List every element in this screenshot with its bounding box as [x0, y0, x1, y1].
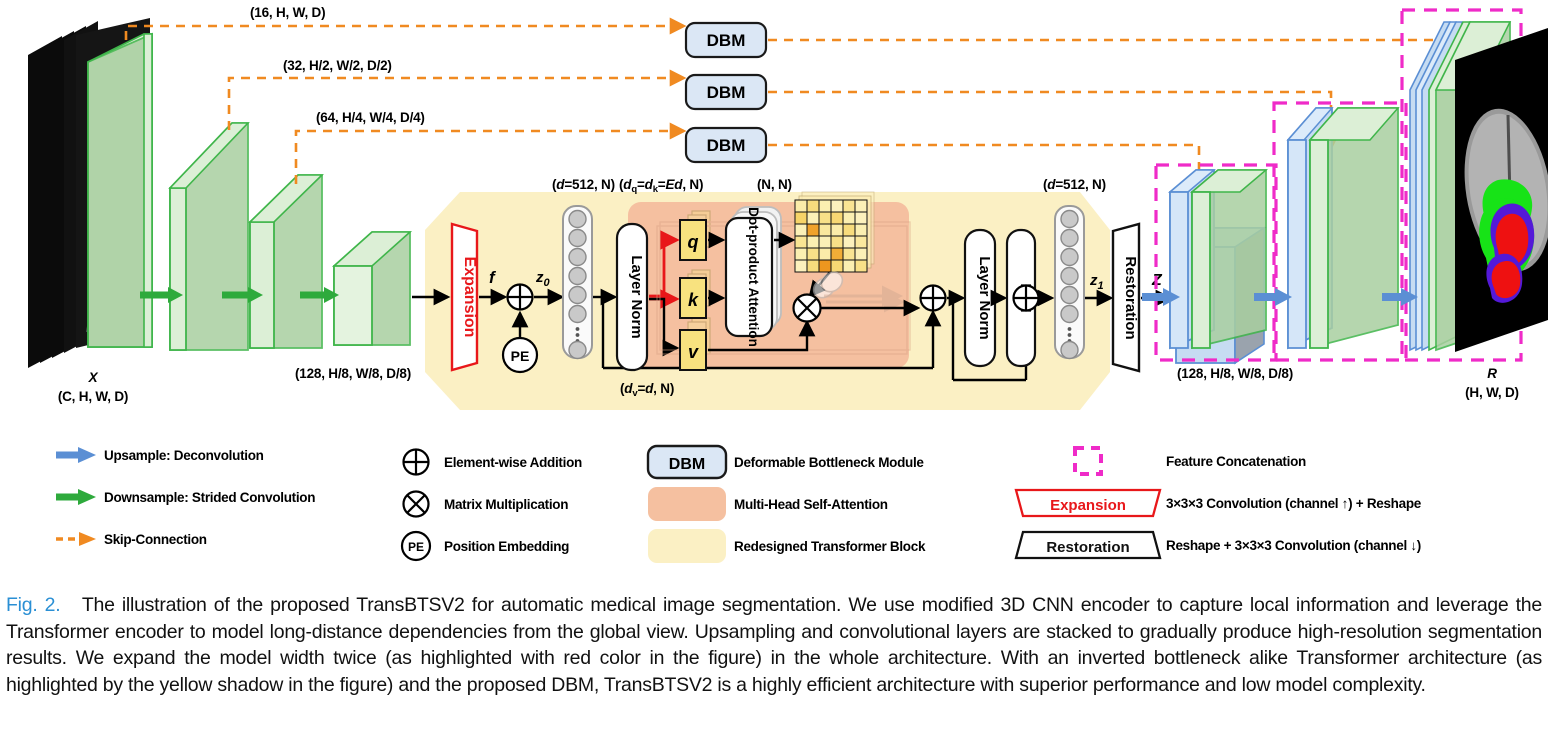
legend-item-concat: Feature Concatenation — [1010, 444, 1306, 478]
heatmap-cell — [831, 200, 843, 212]
legend-item-transformer-block: Redesigned Transformer Block — [642, 528, 925, 564]
transformer-out-shape-label: (128, H/8, W/8, D/8) — [1177, 366, 1293, 381]
layer-norm-label-1: Layer Norm — [628, 255, 645, 338]
skip-shape-label-1: (16, H, W, D) — [250, 5, 325, 20]
legend-item-downsample: Downsample: Strided Convolution — [48, 488, 315, 506]
pe-label: PE — [511, 348, 530, 364]
token-sequence-in — [563, 206, 592, 359]
k-label: k — [688, 290, 699, 310]
heatmap-cell — [807, 200, 819, 212]
green-arrow-icon — [48, 488, 104, 506]
v-label: v — [688, 342, 699, 362]
output-shape-label: (H, W, D) — [1465, 385, 1519, 400]
bottleneck-shape-label: (128, H/8, W/8, D/8) — [295, 366, 411, 381]
figure-caption: Fig. 2. The illustration of the proposed… — [6, 592, 1542, 698]
position-embedding: PE — [503, 338, 537, 372]
architecture-diagram: X (C, H, W, D) — [0, 0, 1548, 432]
skip-shape-label-3: (64, H/4, W/4, D/4) — [316, 110, 425, 125]
legend-item-pe: PE Position Embedding — [388, 530, 569, 562]
expansion-trapezoid-icon: Expansion — [1010, 486, 1166, 520]
legend-label-downsample: Downsample: Strided Convolution — [104, 490, 315, 505]
heatmap-cell — [795, 248, 807, 260]
skip-connection-1 — [126, 26, 684, 40]
dbm-label-1: DBM — [707, 31, 746, 50]
encoder-block-3 — [250, 175, 322, 348]
legend-item-restoration: Restoration Reshape + 3×3×3 Convolution … — [1010, 528, 1421, 562]
circle-plus-icon — [388, 446, 444, 478]
shape-attn-label: (N, N) — [757, 177, 792, 192]
legend-item-addition: Element-wise Addition — [388, 446, 582, 478]
encoder-block-2 — [170, 123, 248, 350]
segmentation-output-image — [1454, 28, 1548, 352]
v-box: v — [680, 330, 706, 370]
orange-dashed-arrow-icon — [48, 530, 104, 548]
heatmap-cell — [855, 260, 867, 272]
heatmap-cell — [855, 200, 867, 212]
heatmap-cell — [843, 248, 855, 260]
legend-label-dbm: Deformable Bottleneck Module — [734, 455, 924, 470]
dbm-box-1[interactable]: DBM — [686, 23, 766, 57]
shape-tokens-out-label: (d=512, N) — [1043, 177, 1106, 192]
legend-label-concat: Feature Concatenation — [1166, 454, 1306, 469]
layer-norm-2: Layer Norm — [965, 230, 995, 366]
heatmap-cell — [855, 236, 867, 248]
heatmap-cell — [831, 224, 843, 236]
heatmap-cell — [807, 224, 819, 236]
blue-arrow-icon — [48, 446, 104, 464]
heatmap-cell — [795, 200, 807, 212]
figure-root: X (C, H, W, D) — [0, 0, 1548, 746]
heatmap-cell — [819, 212, 831, 224]
svg-text:DBM: DBM — [669, 456, 705, 473]
legend-label-skip: Skip-Connection — [104, 532, 207, 547]
heatmap-cell — [819, 200, 831, 212]
legend-label-pe: Position Embedding — [444, 539, 569, 554]
legend-label-matmul: Matrix Multiplication — [444, 497, 568, 512]
element-wise-addition-3 — [1014, 286, 1039, 311]
dbm-box-icon: DBM — [642, 444, 734, 480]
q-label: q — [688, 232, 699, 252]
heatmap-cell — [831, 260, 843, 272]
heatmap-cell — [795, 224, 807, 236]
figure-caption-text: The illustration of the proposed TransBT… — [6, 594, 1542, 696]
dot-product-attention-label: Dot-product Attention — [746, 207, 761, 347]
layer-norm-1: Layer Norm — [617, 224, 647, 370]
svg-text:Restoration: Restoration — [1046, 539, 1129, 556]
k-box: k — [680, 278, 706, 318]
element-wise-addition-1 — [508, 285, 533, 310]
dbm-box-2[interactable]: DBM — [686, 75, 766, 109]
heatmap-cell — [831, 212, 843, 224]
heatmap-cell — [819, 236, 831, 248]
dbm-label-2: DBM — [707, 83, 746, 102]
element-wise-addition-2 — [921, 286, 946, 311]
pe-circle-icon: PE — [388, 530, 444, 562]
legend-item-dbm: DBM Deformable Bottleneck Module — [642, 444, 924, 480]
magenta-dashed-box-icon — [1010, 444, 1166, 478]
attention-heatmap — [795, 192, 874, 272]
dbm-label-3: DBM — [707, 136, 746, 155]
shape-tokens-in-label: (d=512, N) — [552, 177, 615, 192]
figure-number: Fig. 2. — [6, 594, 60, 616]
heatmap-cell — [855, 248, 867, 260]
heatmap-cell — [855, 212, 867, 224]
token-sequence-out — [1055, 206, 1084, 359]
skip-out-1 — [768, 40, 1450, 58]
svg-text:Expansion: Expansion — [1050, 497, 1126, 514]
legend: Upsample: Deconvolution Downsample: Stri… — [0, 432, 1548, 572]
layer-norm-label-2: Layer Norm — [976, 256, 993, 339]
salmon-swatch-icon — [642, 486, 734, 522]
encoder-block-1 — [88, 34, 152, 347]
heatmap-cell — [855, 224, 867, 236]
heatmap-cell — [819, 224, 831, 236]
restoration-trapezoid-icon: Restoration — [1010, 528, 1166, 562]
heatmap-cell — [843, 260, 855, 272]
legend-item-skip: Skip-Connection — [48, 530, 207, 548]
legend-item-matmul: Matrix Multiplication — [388, 488, 568, 520]
heatmap-cell — [807, 236, 819, 248]
heatmap-cell — [843, 236, 855, 248]
yellow-swatch-icon — [642, 528, 734, 564]
decoder-block-1 — [1170, 170, 1266, 348]
q-box: q — [680, 220, 706, 260]
decoder-block-2 — [1288, 108, 1398, 348]
heatmap-cell — [795, 236, 807, 248]
heatmap-cell — [807, 248, 819, 260]
heatmap-cell — [819, 248, 831, 260]
svg-text:PE: PE — [408, 540, 424, 554]
heatmap-cell — [819, 260, 831, 272]
legend-label-restoration: Reshape + 3×3×3 Convolution (channel ↓) — [1166, 538, 1421, 553]
skip-connection-2 — [229, 78, 684, 130]
circle-times-icon — [388, 488, 444, 520]
heatmap-cell — [795, 260, 807, 272]
legend-item-mhsa: Multi-Head Self-Attention — [642, 486, 888, 522]
heatmap-cell — [807, 260, 819, 272]
legend-label-addition: Element-wise Addition — [444, 455, 582, 470]
legend-label-upsample: Upsample: Deconvolution — [104, 448, 264, 463]
skip-out-3 — [768, 145, 1199, 196]
heatmap-cell — [795, 212, 807, 224]
legend-item-expansion: Expansion 3×3×3 Convolution (channel ↑) … — [1010, 486, 1421, 520]
heatmap-cell — [843, 212, 855, 224]
restoration-block[interactable]: Restoration — [1113, 224, 1139, 371]
output-label: R — [1487, 366, 1497, 381]
dbm-box-3[interactable]: DBM — [686, 128, 766, 162]
heatmap-cell — [843, 224, 855, 236]
heatmap-cell — [831, 236, 843, 248]
skip-out-2 — [768, 92, 1331, 148]
restoration-label: Restoration — [1122, 256, 1139, 339]
skip-shape-label-2: (32, H/2, W/2, D/2) — [283, 58, 392, 73]
legend-item-upsample: Upsample: Deconvolution — [48, 446, 264, 464]
expansion-block[interactable]: Expansion — [452, 224, 478, 370]
heatmap-cell — [807, 212, 819, 224]
input-shape-label: (C, H, W, D) — [58, 389, 128, 404]
encoder-block-4 — [334, 232, 410, 345]
heatmap-cell — [843, 200, 855, 212]
expansion-label: Expansion — [461, 257, 478, 338]
legend-label-transformer-block: Redesigned Transformer Block — [734, 539, 925, 554]
matrix-multiplication-op — [794, 295, 821, 322]
heatmap-cell — [831, 248, 843, 260]
dot-product-attention-block: Dot-product Attention — [726, 207, 781, 347]
legend-label-expansion: 3×3×3 Convolution (channel ↑) + Reshape — [1166, 496, 1421, 511]
input-label: X — [88, 370, 99, 385]
legend-label-mhsa: Multi-Head Self-Attention — [734, 497, 888, 512]
